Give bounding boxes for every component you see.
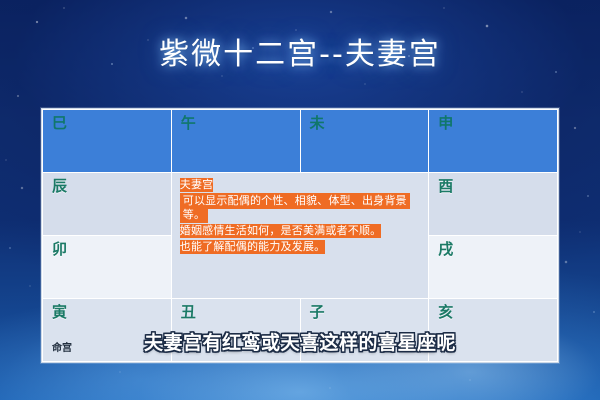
table-row-chen-you: 辰 夫妻宫 可以显示配偶的个性、相貌、体型、出身背景等。 婚姻感情生活如何，是否… xyxy=(43,173,558,236)
description-line-2: 婚姻感情生活如何，是否美满或者不顺。 xyxy=(180,224,382,238)
cell-wu[interactable]: 午 xyxy=(171,110,300,173)
video-frame: 紫微十二宫--夫妻宫 巳 午 未 申 辰 xyxy=(0,0,600,400)
twelve-palaces-grid: 巳 午 未 申 辰 夫妻宫 可以显示配偶 xyxy=(41,108,559,363)
cell-chen[interactable]: 辰 xyxy=(43,173,172,236)
description-line-3: 也能了解配偶的能力及发展。 xyxy=(180,240,326,254)
branch-label-wu: 午 xyxy=(181,114,196,132)
branch-label-chen: 辰 xyxy=(52,177,67,195)
cell-xu[interactable]: 戌 xyxy=(429,236,558,299)
branch-label-zi: 子 xyxy=(310,303,325,321)
branch-label-xu: 戌 xyxy=(438,240,453,258)
palace-table: 巳 午 未 申 辰 夫妻宫 可以显示配偶 xyxy=(42,109,558,362)
description-block: 夫妻宫 可以显示配偶的个性、相貌、体型、出身背景等。 婚姻感情生活如何，是否美满… xyxy=(180,178,425,256)
cell-si[interactable]: 巳 xyxy=(43,110,172,173)
description-heading: 夫妻宫 xyxy=(180,178,214,192)
page-title: 紫微十二宫--夫妻宫 xyxy=(0,36,600,74)
description-line-1: 可以显示配偶的个性、相貌、体型、出身背景等。 xyxy=(180,194,425,222)
cell-shen[interactable]: 申 xyxy=(429,110,558,173)
branch-label-hai: 亥 xyxy=(438,303,453,321)
cell-mao[interactable]: 卯 xyxy=(43,236,172,299)
subtitle-caption: 夫妻宫有红鸾或天喜这样的喜星座呢 xyxy=(0,330,600,356)
branch-label-si: 巳 xyxy=(52,114,67,132)
branch-label-wei: 未 xyxy=(310,114,325,132)
branch-label-chou: 丑 xyxy=(181,303,196,321)
cell-wei[interactable]: 未 xyxy=(300,110,429,173)
spouse-palace-description-cell[interactable]: 夫妻宫 可以显示配偶的个性、相貌、体型、出身背景等。 婚姻感情生活如何，是否美满… xyxy=(171,173,429,299)
cell-you[interactable]: 酉 xyxy=(429,173,558,236)
table-row-top-branches: 巳 午 未 申 xyxy=(43,110,558,173)
branch-label-mao: 卯 xyxy=(52,240,67,258)
branch-label-shen: 申 xyxy=(438,114,453,132)
branch-label-yin: 寅 xyxy=(52,303,67,321)
branch-label-you: 酉 xyxy=(438,177,453,195)
